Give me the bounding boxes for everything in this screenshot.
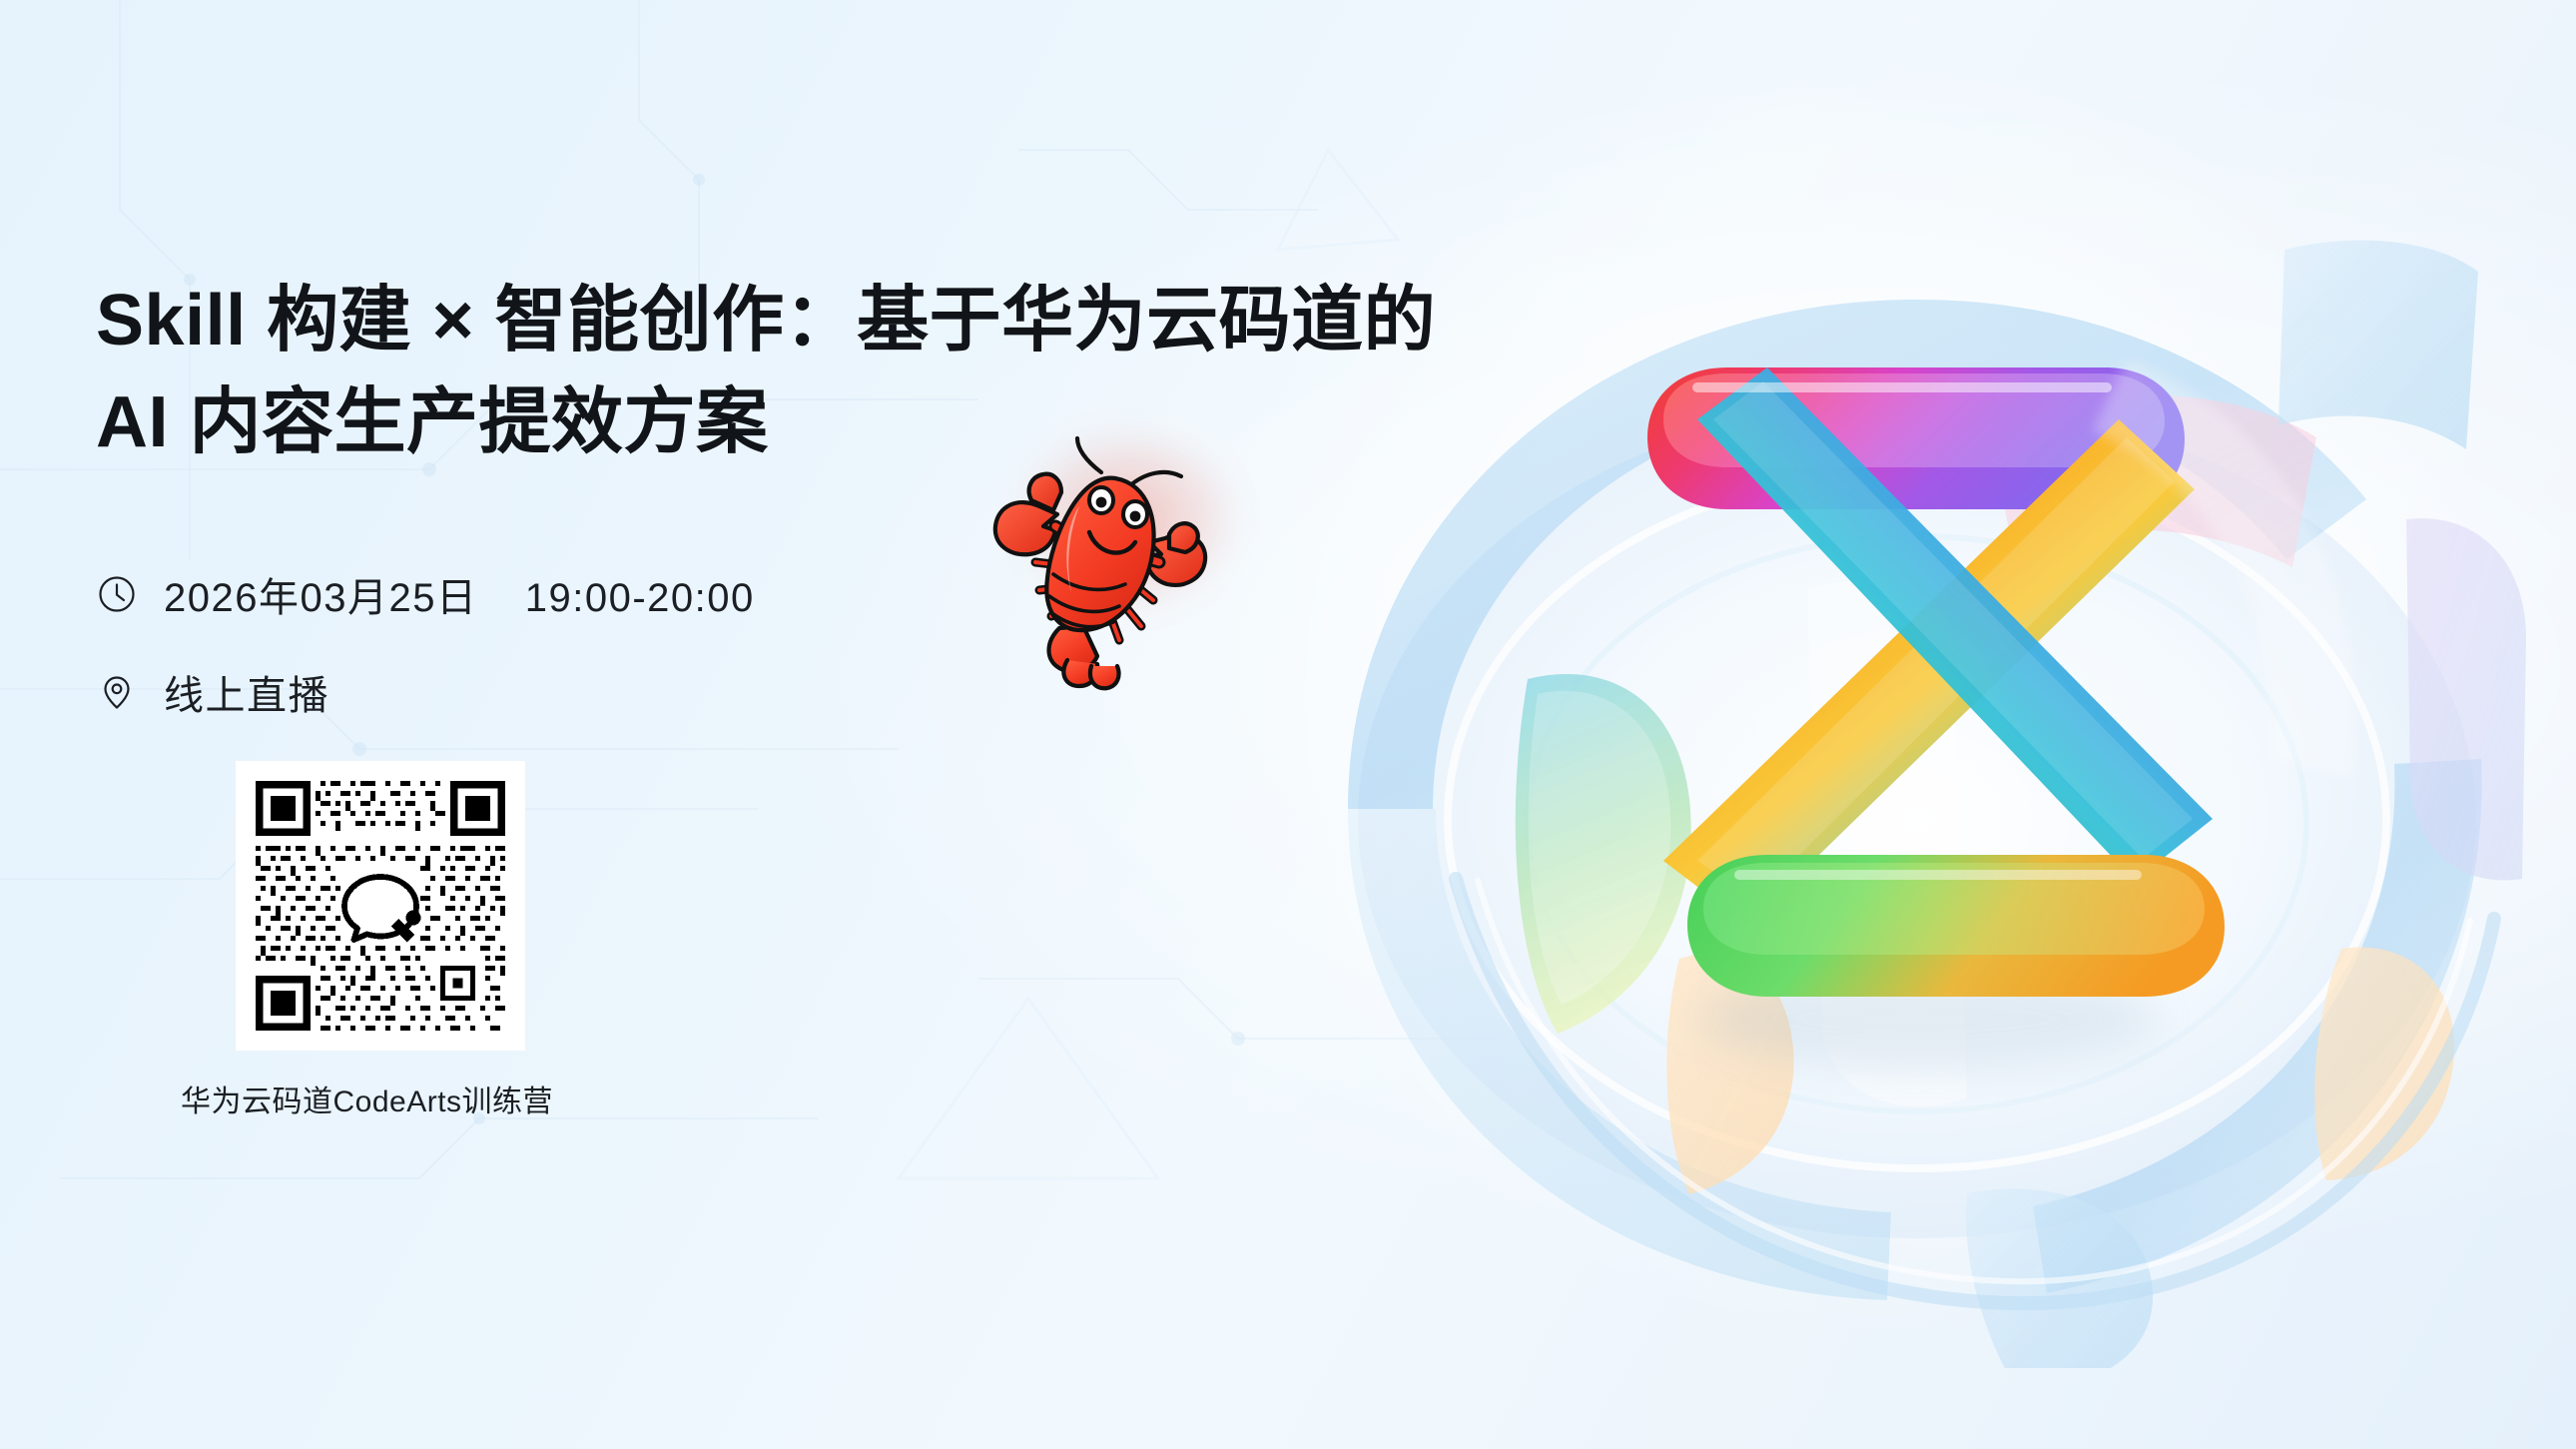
- banner-content: Skill 构建 × 智能创作：基于华为云码道的 AI 内容生产提效方案 202…: [96, 270, 1194, 1120]
- qr-caption: 华为云码道CodeArts训练营: [181, 1077, 470, 1120]
- qr-code[interactable]: [236, 761, 525, 1051]
- location-pin-icon: [96, 671, 138, 713]
- title-line-1: Skill 构建 × 智能创作：基于华为云码道的: [96, 270, 1194, 371]
- clock-icon: [96, 573, 138, 615]
- lobster-sticker: [973, 414, 1233, 694]
- chat-bubble-icon: [340, 866, 421, 946]
- webinar-banner: Skill 构建 × 智能创作：基于华为云码道的 AI 内容生产提效方案 202…: [0, 0, 2576, 1449]
- datetime-text: 2026年03月25日 19:00-20:00: [164, 565, 755, 623]
- event-date: 2026年03月25日: [164, 576, 477, 620]
- qr-block: 华为云码道CodeArts训练营: [236, 761, 1194, 1120]
- event-time: 19:00-20:00: [525, 576, 755, 620]
- location-text: 线上直播: [164, 663, 329, 721]
